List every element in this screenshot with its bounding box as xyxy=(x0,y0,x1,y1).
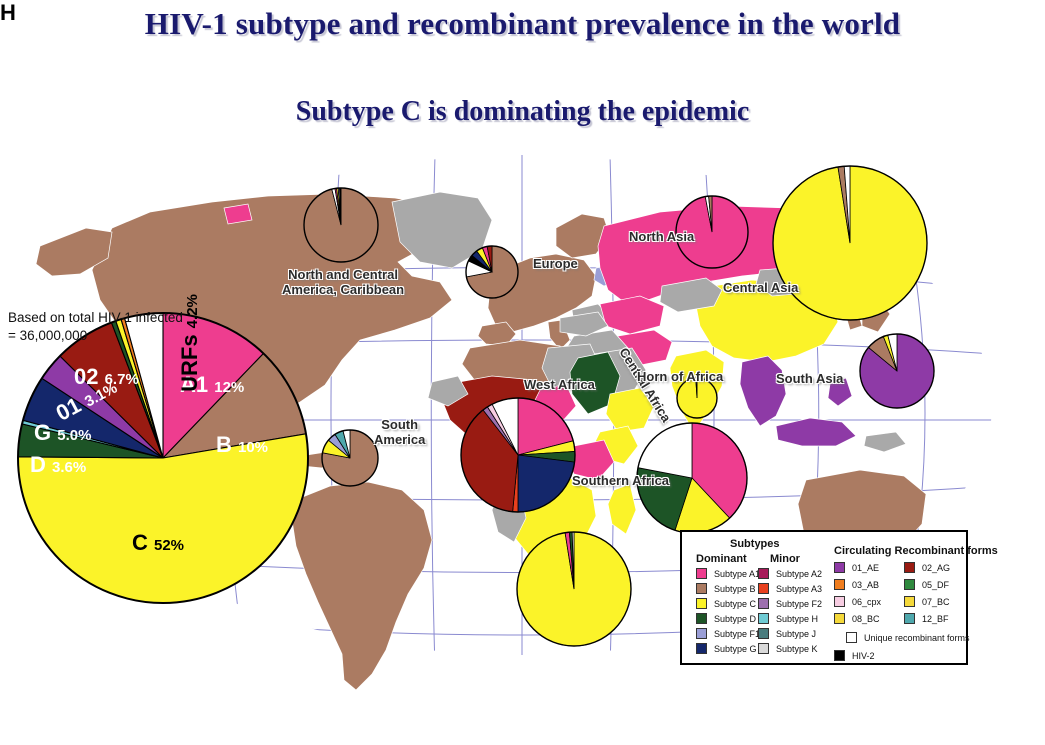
country-indonesia xyxy=(776,418,856,446)
legend-swatch-subtype-c xyxy=(696,598,707,609)
legend-swatch-subtype-a1 xyxy=(696,568,707,579)
legend-swatch-subtype-k xyxy=(758,643,769,654)
legend-swatch-subtype-d xyxy=(696,613,707,624)
legend-crf-header: Circulating Recombinant forms xyxy=(834,545,998,557)
country-caucasus xyxy=(600,296,664,334)
legend-label-12-bf: 12_BF xyxy=(922,614,949,624)
legend-dominant-header: Dominant xyxy=(696,553,747,565)
legend-swatch-subtype-f2 xyxy=(758,598,769,609)
country-ethiopia-yellow xyxy=(606,388,654,432)
country-png-grey xyxy=(864,432,906,452)
legend-label-subtype-d: Subtype D xyxy=(714,614,756,624)
legend-swatch-01-ae xyxy=(834,562,845,573)
legend-swatch-05-df xyxy=(904,579,915,590)
total-infected-note: Based on total HIV-1 infected = 36,000,0… xyxy=(8,309,183,345)
legend-label-subtype-c: Subtype C xyxy=(714,599,756,609)
legend-label-subtype-f1: Subtype F1 xyxy=(714,629,760,639)
pie-west-africa xyxy=(461,398,575,512)
legend-swatch-07-bc xyxy=(904,596,915,607)
legend-box: Subtypes Dominant Minor Circulating Reco… xyxy=(680,530,968,665)
legend-label-05-df: 05_DF xyxy=(922,580,949,590)
legend-swatch-subtype-f1 xyxy=(696,628,707,639)
country-philippines xyxy=(828,378,852,406)
legend-label-subtype-a1: Subtype A1 xyxy=(714,569,760,579)
note-line-2: = 36,000,000 xyxy=(8,327,183,345)
legend-label-06-cpx: 06_cpx xyxy=(852,597,881,607)
pie-central-asia xyxy=(773,166,927,320)
legend-label-01-ae: 01_AE xyxy=(852,563,879,573)
pie-north-asia xyxy=(676,196,748,268)
page-title: HIV-1 subtype and recombinant prevalence… xyxy=(0,6,1045,42)
country-sea-mainland xyxy=(740,356,786,426)
pie-south-america xyxy=(322,430,378,486)
legend-label-03-ab: 03_AB xyxy=(852,580,879,590)
legend-swatch-08-bc xyxy=(834,613,845,624)
legend-label-urf: Unique recombinant forms xyxy=(864,633,970,643)
pie-central-africa xyxy=(637,423,747,533)
legend-label-08-bc: 08_BC xyxy=(852,614,880,624)
legend-label-subtype-a2: Subtype A2 xyxy=(776,569,822,579)
pie-southern-africa xyxy=(517,532,631,646)
pie-north-central-america xyxy=(304,188,378,262)
country-madagascar xyxy=(608,484,636,534)
legend-subtypes-header: Subtypes xyxy=(730,538,780,550)
legend-swatch-subtype-b xyxy=(696,583,707,594)
legend-label-subtype-f2: Subtype F2 xyxy=(776,599,822,609)
legend-label-07-bc: 07_BC xyxy=(922,597,950,607)
legend-label-hiv-2: HIV-2 xyxy=(852,651,875,661)
legend-label-subtype-h: Subtype H xyxy=(776,614,818,624)
pie-south-asia xyxy=(860,334,934,408)
legend-label-subtype-k: Subtype K xyxy=(776,644,818,654)
legend-swatch-06-cpx xyxy=(834,596,845,607)
legend-swatch-subtype-a3 xyxy=(758,583,769,594)
legend-swatch-12-bf xyxy=(904,613,915,624)
legend-label-02-ag: 02_AG xyxy=(922,563,950,573)
note-line-1: Based on total HIV-1 infected xyxy=(8,309,183,327)
legend-label-subtype-a3: Subtype A3 xyxy=(776,584,822,594)
legend-swatch-subtype-a2 xyxy=(758,568,769,579)
legend-swatch-03-ab xyxy=(834,579,845,590)
legend-swatch-subtype-g xyxy=(696,643,707,654)
legend-minor-header: Minor xyxy=(770,553,800,565)
country-central-america xyxy=(232,450,300,496)
country-south-america xyxy=(292,482,432,690)
legend-swatch-subtype-h xyxy=(758,613,769,624)
legend-label-subtype-j: Subtype J xyxy=(776,629,816,639)
legend-swatch-02-ag xyxy=(904,562,915,573)
page-subtitle: Subtype C is dominating the epidemic xyxy=(0,96,1045,128)
legend-swatch-hiv-2 xyxy=(834,650,845,661)
legend-swatch-subtype-j xyxy=(758,628,769,639)
slide-canvas: HIV-1 subtype and recombinant prevalence… xyxy=(0,0,1045,745)
legend-label-subtype-g: Subtype G xyxy=(714,644,757,654)
country-arctic-pink xyxy=(224,204,252,224)
legend-label-subtype-b: Subtype B xyxy=(714,584,756,594)
pie-europe xyxy=(466,246,518,298)
pie-horn-of-africa xyxy=(677,378,717,418)
legend-swatch-urf xyxy=(846,632,857,643)
